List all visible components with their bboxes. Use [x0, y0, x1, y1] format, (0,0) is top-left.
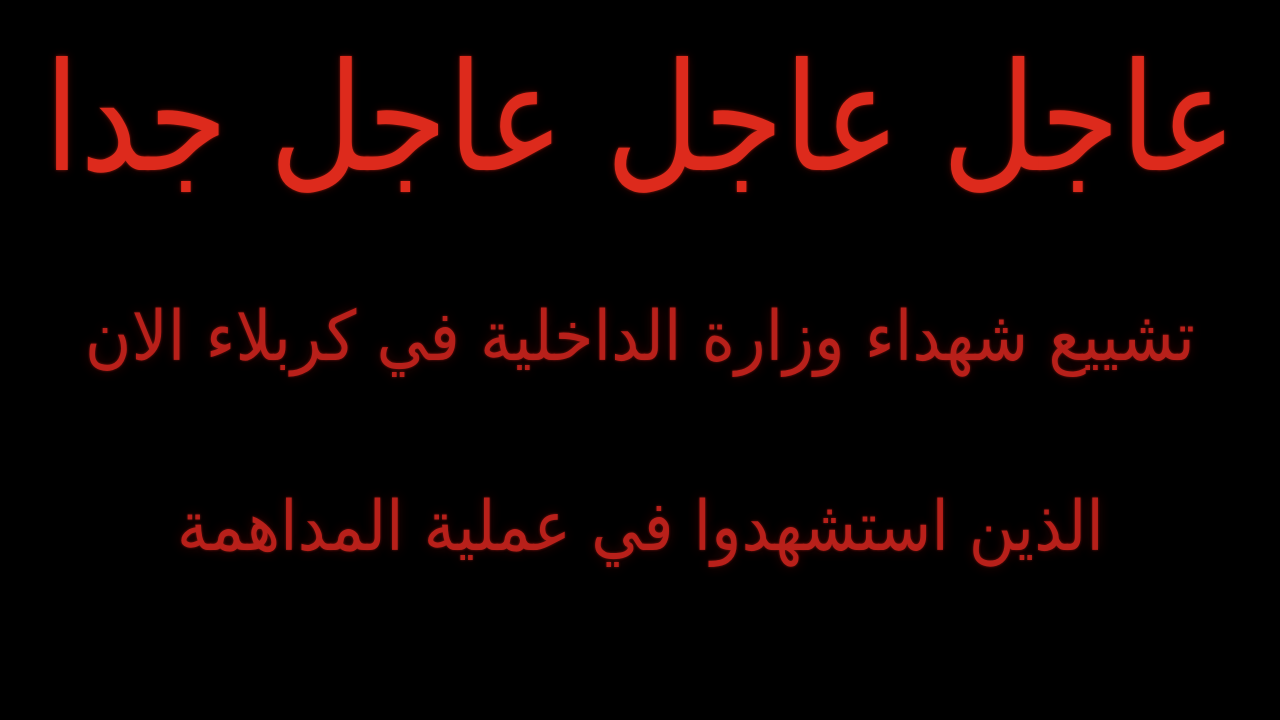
body-line-2: الذين استشهدوا في عملية المداهمة: [176, 483, 1103, 573]
subline-one-row: تشييع شهداء وزارة الداخلية في كربلاء الا…: [0, 286, 1280, 390]
headline-text: عاجل عاجل عاجل جدا: [44, 23, 1237, 215]
body-line-1: تشييع شهداء وزارة الداخلية في كربلاء الا…: [85, 293, 1195, 383]
news-slate: عاجل عاجل عاجل جدا تشييع شهداء وزارة الد…: [0, 0, 1280, 720]
headline-row: عاجل عاجل عاجل جدا: [0, 14, 1280, 224]
subline-two-row: الذين استشهدوا في عملية المداهمة: [0, 476, 1280, 580]
